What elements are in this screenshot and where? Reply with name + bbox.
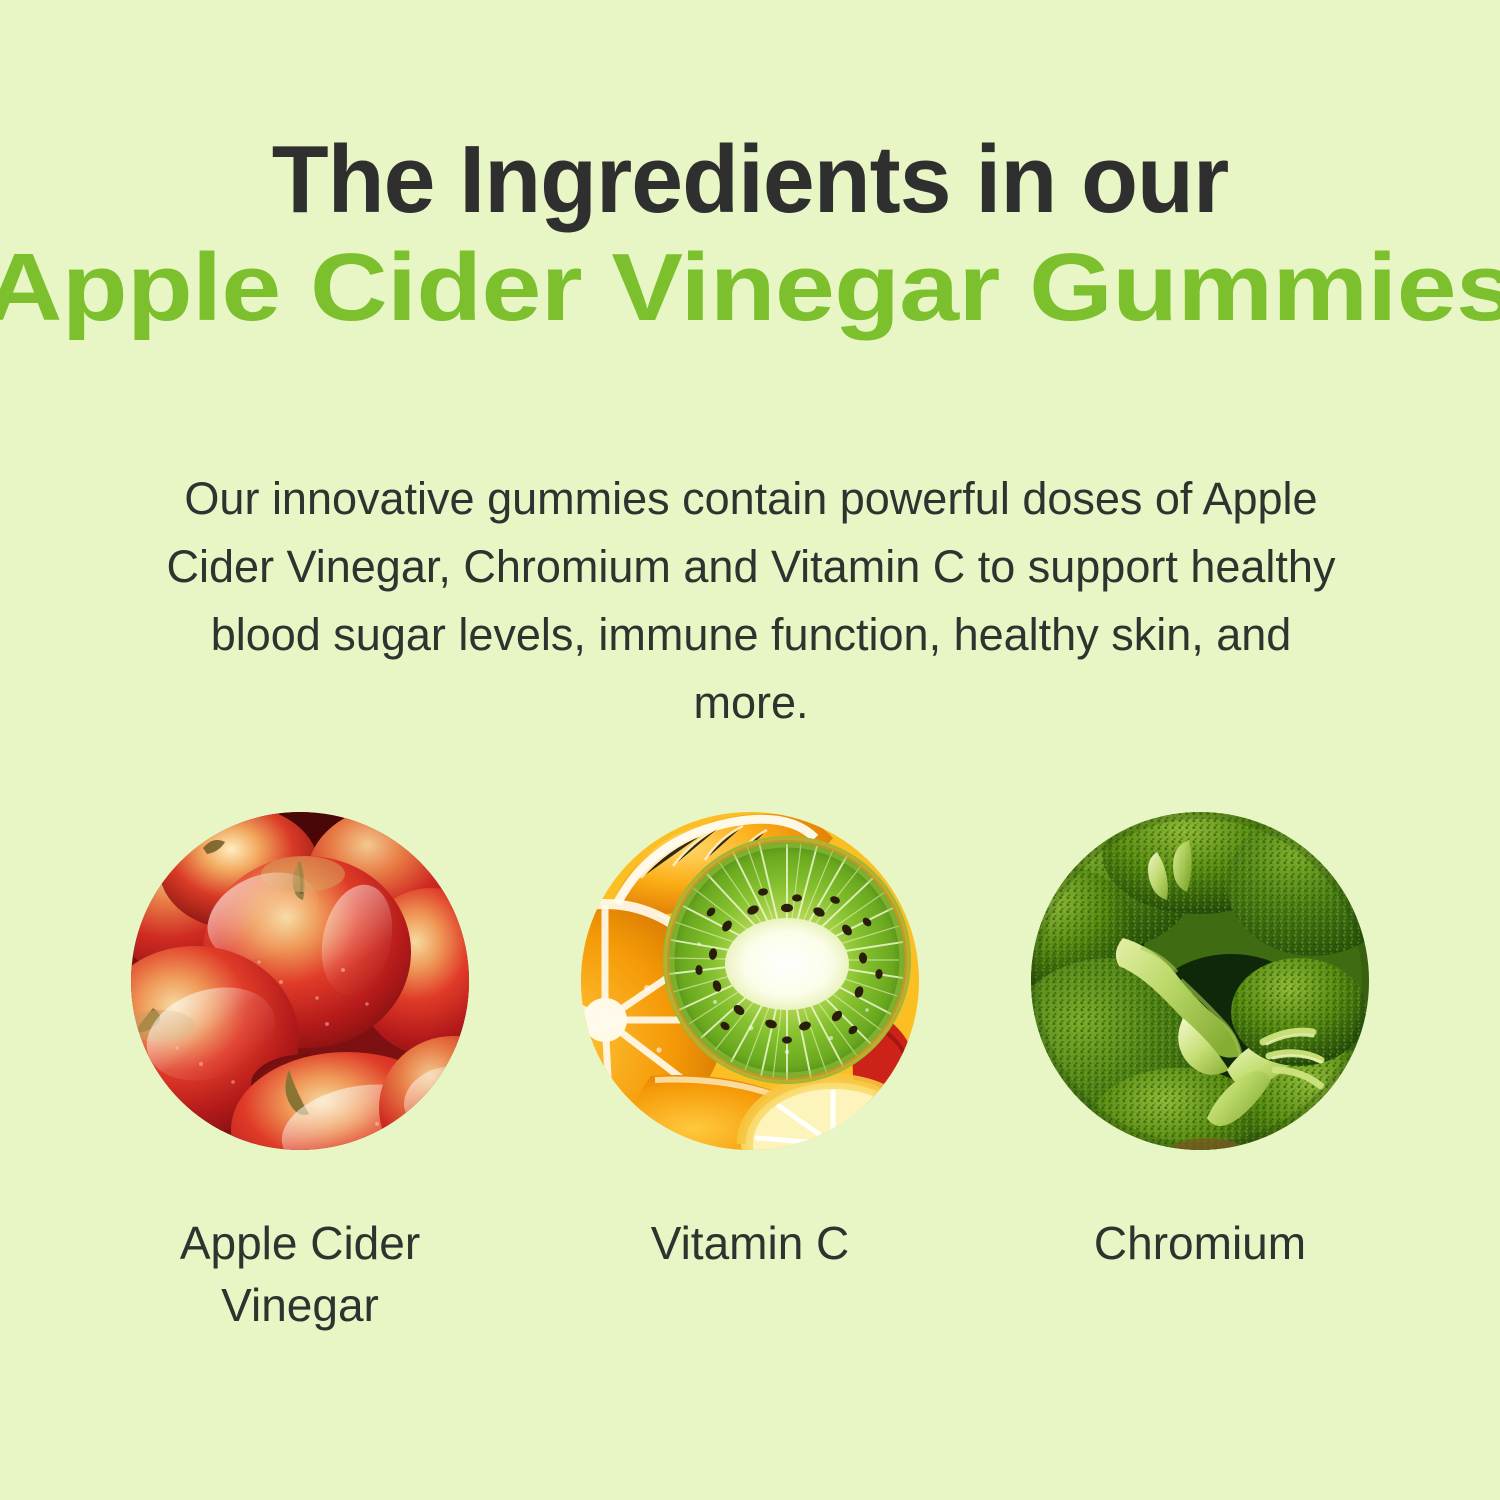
ingredient-label: Chromium bbox=[1094, 1212, 1306, 1274]
headline-line-1: The Ingredients in our bbox=[23, 128, 1478, 232]
headline-line-2: Apple Cider Vinegar Gummies bbox=[0, 232, 1500, 344]
ingredient-item-vitamin-c: Vitamin C bbox=[581, 812, 919, 1274]
ingredient-item-apple-cider-vinegar: Apple Cider Vinegar bbox=[131, 812, 469, 1336]
ingredient-list: Apple Cider Vinegar bbox=[0, 812, 1500, 1336]
ingredient-label: Vitamin C bbox=[651, 1212, 850, 1274]
ingredients-infographic: The Ingredients in our Apple Cider Vineg… bbox=[0, 0, 1500, 1500]
broccoli-photo bbox=[1031, 812, 1369, 1150]
kiwi-citrus-photo bbox=[581, 812, 919, 1150]
red-apples-photo bbox=[131, 812, 469, 1150]
ingredient-item-chromium: Chromium bbox=[1031, 812, 1369, 1274]
intro-paragraph: Our innovative gummies contain powerful … bbox=[150, 465, 1352, 737]
ingredient-label: Apple Cider Vinegar bbox=[180, 1212, 420, 1336]
page-title: The Ingredients in our Apple Cider Vineg… bbox=[0, 128, 1500, 344]
